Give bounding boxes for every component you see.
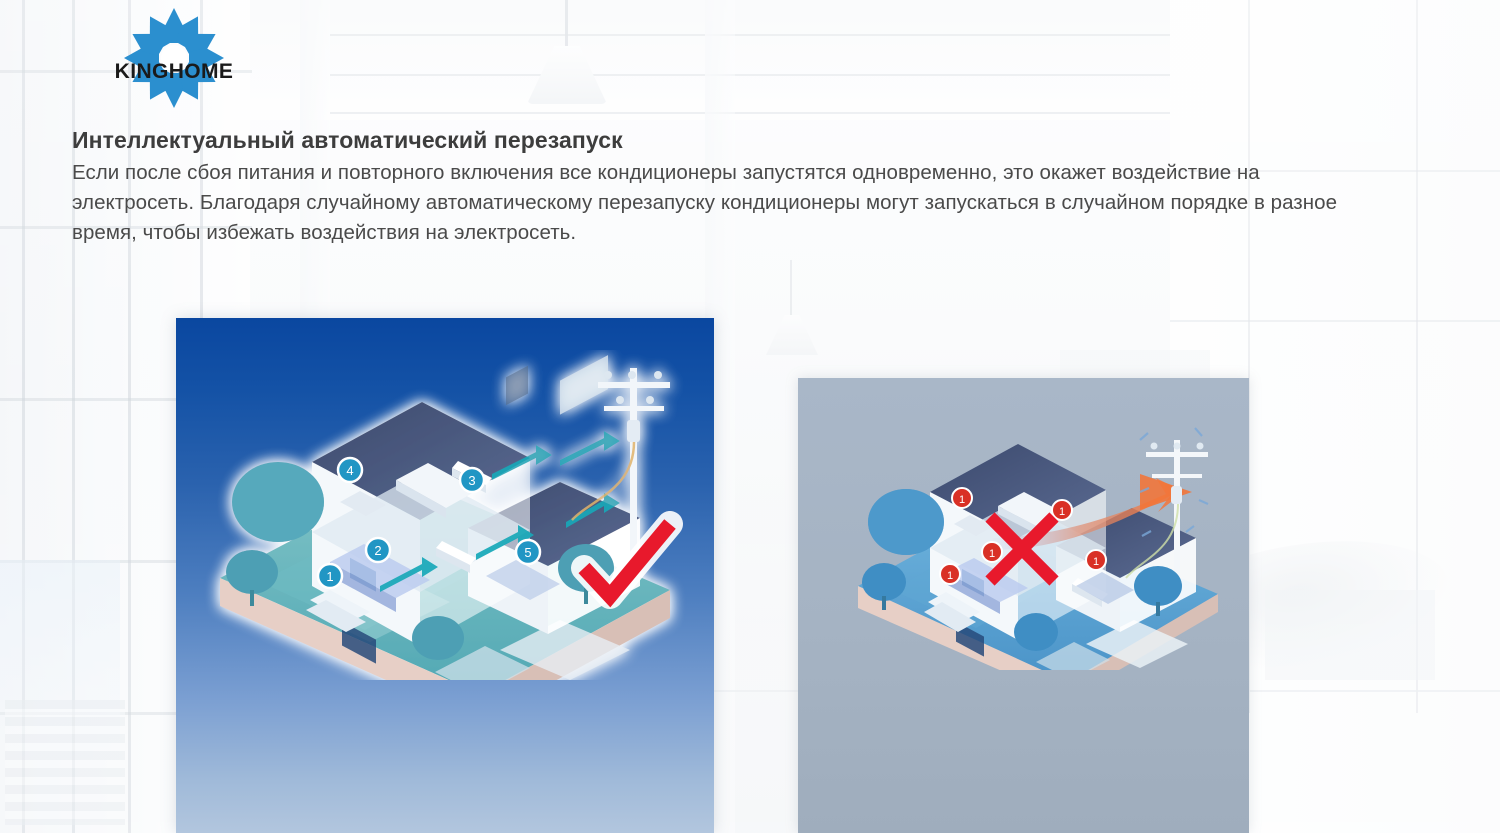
svg-text:5: 5 [524, 545, 531, 560]
red-cross-mark-icon [976, 503, 1068, 595]
svg-text:4: 4 [346, 463, 353, 478]
kinghome-snowflake-icon [104, 6, 244, 110]
card-without-smart-restart: 1 1 1 1 1 без интеллектуального автомати… [798, 378, 1249, 833]
svg-text:1: 1 [1093, 556, 1099, 568]
svg-text:1: 1 [947, 570, 953, 582]
svg-text:3: 3 [468, 473, 475, 488]
svg-text:2: 2 [374, 543, 381, 558]
page-description: Если после сбоя питания и повторного вкл… [72, 158, 1362, 248]
kinghome-logo: KINGHOME [104, 6, 244, 110]
page-title: Интеллектуальный автоматический перезапу… [72, 127, 623, 154]
card-with-smart-restart: 4 3 2 1 5 с интеллектуальным автоматичес… [176, 318, 714, 833]
svg-text:1: 1 [959, 494, 965, 506]
red-check-mark-icon [566, 508, 686, 618]
page-description-text: Если после сбоя питания и повторного вкл… [72, 158, 1362, 248]
svg-text:1: 1 [326, 569, 333, 584]
kinghome-wordmark: KINGHOME [104, 61, 244, 82]
